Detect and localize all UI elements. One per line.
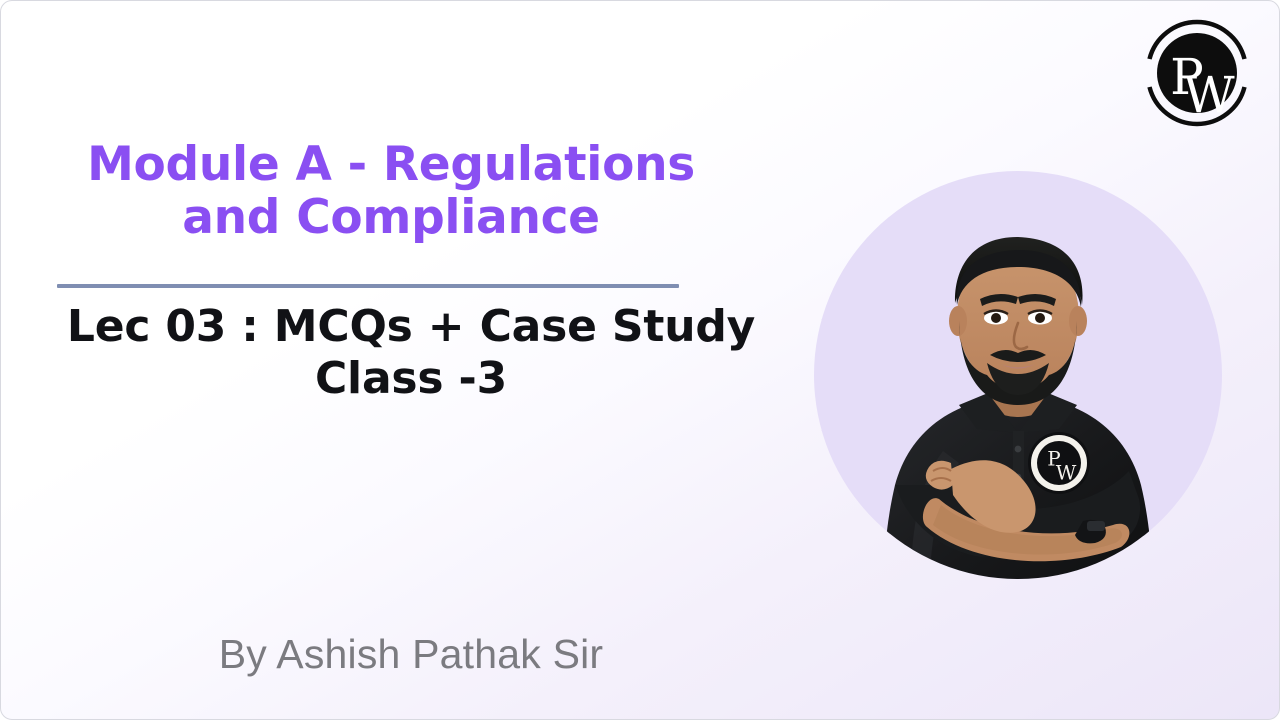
slide-text-column: Module A - Regulations and Compliance Le… (1, 1, 791, 720)
subtitle-line-2: Class -3 (41, 353, 781, 405)
lecture-title-slide: P W Module A - Regulations and Complianc… (0, 0, 1280, 720)
subtitle-line-1: Lec 03 : MCQs + Case Study (41, 301, 781, 353)
lecture-subtitle: Lec 03 : MCQs + Case Study Class -3 (41, 301, 781, 405)
title-line-1: Module A - Regulations (41, 139, 741, 192)
pw-logo: P W (1133, 9, 1261, 137)
title-line-2: and Compliance (41, 192, 741, 245)
page-title: Module A - Regulations and Compliance (41, 139, 741, 244)
title-divider (57, 284, 679, 288)
svg-text:W: W (1183, 66, 1235, 124)
svg-text:W: W (1056, 461, 1077, 485)
instructor-portrait: P W (791, 133, 1251, 621)
presenter-byline: By Ashish Pathak Sir (41, 631, 781, 678)
